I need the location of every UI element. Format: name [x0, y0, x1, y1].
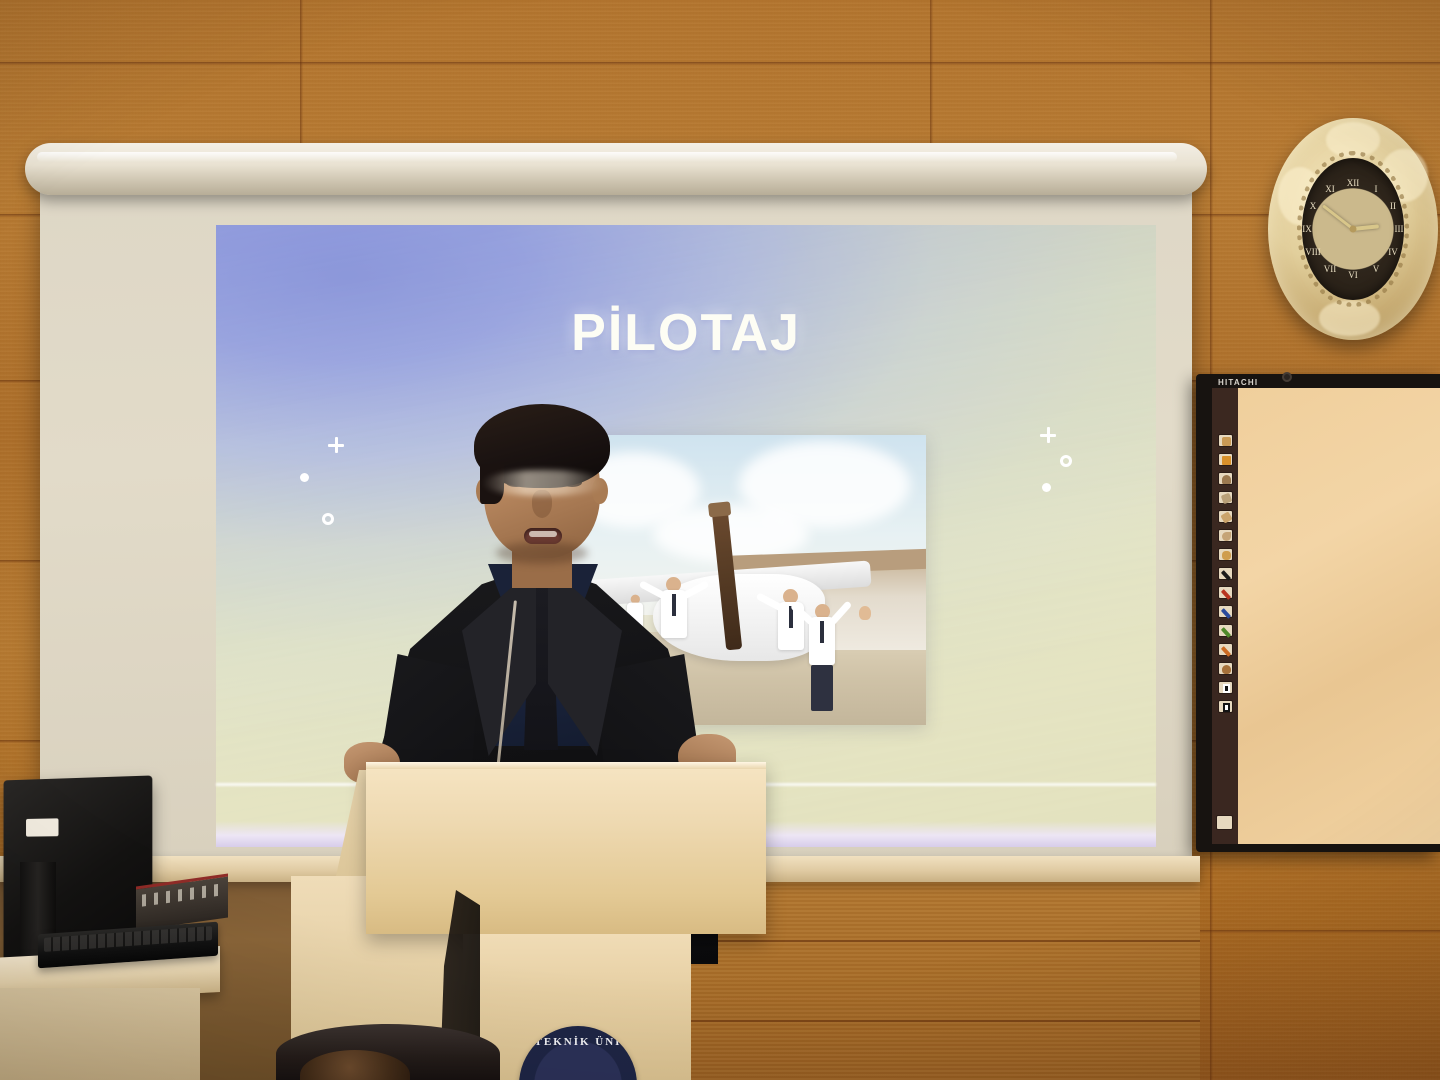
- dot-icon: [1042, 483, 1051, 492]
- settings-tool-icon[interactable]: [1216, 815, 1233, 830]
- pen-orange-icon[interactable]: [1218, 643, 1233, 656]
- clock-numeral: XII: [1347, 178, 1360, 188]
- pilot-tie: [820, 621, 824, 643]
- photo-pilot-right: [809, 604, 835, 711]
- projector-glare-on-face: [482, 470, 606, 496]
- clock-numeral: VII: [1324, 264, 1337, 274]
- plus-icon: [328, 437, 344, 453]
- square-tool-filled-icon[interactable]: [1218, 681, 1233, 694]
- whiteboard-brand-label: HITACHI: [1218, 378, 1258, 387]
- eraser-tool-icon[interactable]: [1218, 491, 1233, 504]
- clock-hour-hand: [1353, 224, 1379, 231]
- pilot-torso: [809, 617, 835, 665]
- page-tool-icon[interactable]: [1218, 453, 1233, 466]
- pointer-tool-icon[interactable]: [1218, 529, 1233, 542]
- interactive-whiteboard[interactable]: HITACHI: [1196, 374, 1440, 852]
- clock-numeral: II: [1390, 201, 1396, 211]
- pilot-hand: [859, 606, 871, 620]
- clock-center-pin: [1350, 225, 1357, 232]
- pilot-legs: [811, 665, 833, 711]
- monitor-asset-label: [26, 818, 58, 836]
- whiteboard-surface[interactable]: [1238, 388, 1440, 844]
- pen-red-icon[interactable]: [1218, 586, 1233, 599]
- pen-black-icon[interactable]: [1218, 567, 1233, 580]
- scene-root: XII I II III IV V VI VII VIII IX X XI Pİ…: [0, 0, 1440, 1080]
- whiteboard-toolbar[interactable]: [1212, 388, 1238, 844]
- podium-desk[interactable]: [366, 762, 766, 934]
- pen-blue-icon[interactable]: [1218, 605, 1233, 618]
- square-tool-outline-icon[interactable]: [1218, 700, 1233, 713]
- projector-screen-housing[interactable]: [25, 143, 1207, 195]
- clock-numeral: IV: [1388, 247, 1398, 257]
- emblem-label: TEKNİK ÜNİ: [519, 1036, 637, 1048]
- palette-tool-icon[interactable]: [1218, 662, 1233, 675]
- presenter-chin-shadow: [496, 542, 588, 564]
- clock-numeral: VIII: [1305, 247, 1321, 257]
- clock-numeral: XI: [1325, 184, 1335, 194]
- dot-icon: [300, 473, 309, 482]
- hand-tool-icon[interactable]: [1218, 472, 1233, 485]
- wall-seam-horizontal: [0, 62, 1440, 65]
- select-tool-icon[interactable]: [1218, 434, 1233, 447]
- plus-icon: [1040, 427, 1056, 443]
- clock-face: XII I II III IV V VI VII VIII IX X XI: [1302, 158, 1404, 300]
- pen-green-icon[interactable]: [1218, 624, 1233, 637]
- photo-pilot-center: [778, 589, 804, 650]
- whiteboard-inner: [1212, 388, 1440, 844]
- slide-title: PİLOTAJ: [216, 303, 1156, 363]
- clock-numeral: V: [1373, 264, 1380, 274]
- ring-icon: [322, 513, 334, 525]
- clock-numeral: VI: [1348, 270, 1358, 280]
- ornate-wall-clock: XII I II III IV V VI VII VIII IX X XI: [1268, 118, 1438, 340]
- clock-numeral: X: [1310, 201, 1317, 211]
- whiteboard-mount: [1282, 372, 1292, 382]
- shape-tool-icon[interactable]: [1218, 548, 1233, 561]
- ring-icon: [1060, 455, 1072, 467]
- control-desk-body: [0, 988, 200, 1080]
- clock-numeral: I: [1375, 184, 1378, 194]
- highlighter-tool-icon[interactable]: [1218, 510, 1233, 523]
- clock-numeral: III: [1395, 224, 1404, 234]
- clock-numeral: IX: [1302, 224, 1312, 234]
